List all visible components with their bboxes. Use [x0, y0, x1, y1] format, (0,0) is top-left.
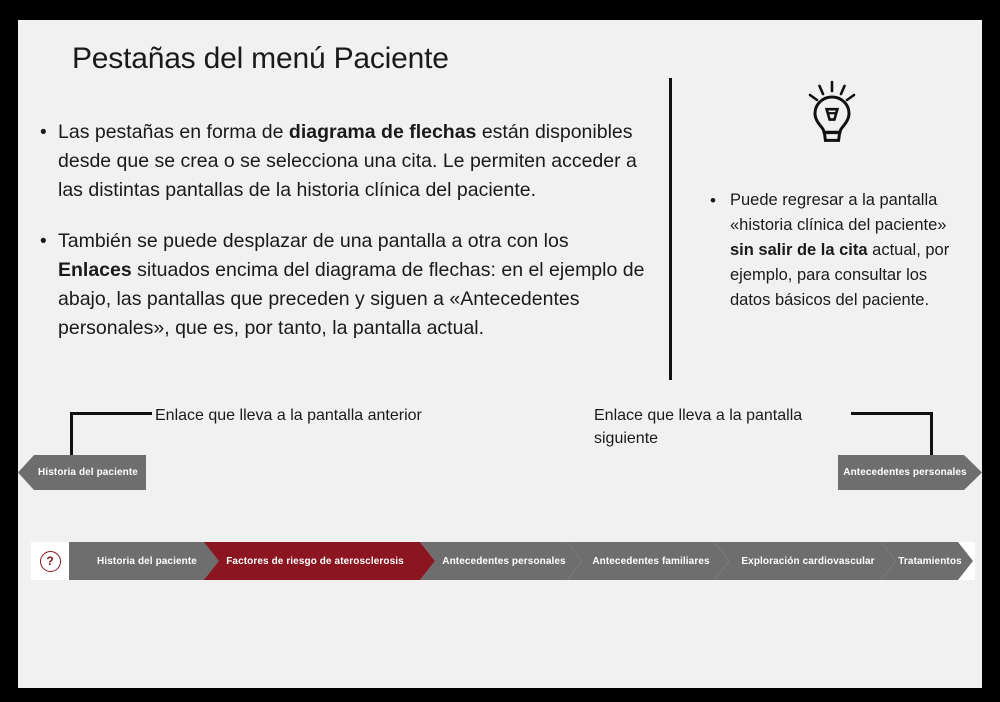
- callout-next-label: Enlace que lleva a la pantalla siguiente: [594, 404, 824, 450]
- bullet-mark: •: [36, 118, 58, 147]
- bullet-item: •Las pestañas en forma de diagrama de fl…: [36, 118, 646, 205]
- tip-panel: • Puede regresar a la pantalla «historia…: [698, 80, 966, 313]
- column-divider: [669, 78, 672, 380]
- lightbulb-icon: [698, 80, 966, 162]
- link-tag-next-label: Antecedentes personales: [843, 467, 976, 478]
- breadcrumb-step[interactable]: Historia del paciente: [69, 542, 219, 580]
- bullet-mark: •: [36, 227, 58, 256]
- bullet-text: También se puede desplazar de una pantal…: [58, 227, 646, 343]
- link-tag-previous[interactable]: Historia del paciente: [18, 455, 146, 490]
- breadcrumb-step-label: Factores de riesgo de aterosclerosis: [214, 556, 410, 567]
- breadcrumb-step[interactable]: Antecedentes familiares: [567, 542, 729, 580]
- breadcrumb-step[interactable]: Exploración cardiovascular: [714, 542, 896, 580]
- callout-previous-connector-horizontal: [70, 412, 152, 415]
- body-text: Puede regresar a la pantalla «historia c…: [730, 191, 946, 234]
- breadcrumb-step-label: Antecedentes personales: [430, 556, 571, 567]
- breadcrumb-step-label: Tratamientos: [886, 556, 967, 567]
- slide-canvas: Pestañas del menú Paciente •Las pestañas…: [18, 20, 982, 688]
- link-tag-previous-label: Historia del paciente: [26, 467, 138, 478]
- left-body-bullets: •Las pestañas en forma de diagrama de fl…: [36, 118, 646, 365]
- callout-next-connector-horizontal: [851, 412, 933, 415]
- bullet-text: Las pestañas en forma de diagrama de fle…: [58, 118, 646, 205]
- body-text: También se puede desplazar de una pantal…: [58, 230, 569, 252]
- tip-bullet: • Puede regresar a la pantalla «historia…: [698, 188, 966, 313]
- emphasis-text: diagrama de flechas: [289, 121, 477, 143]
- tip-bullet-text: Puede regresar a la pantalla «historia c…: [730, 188, 966, 313]
- callout-previous-label: Enlace que lleva a la pantalla anterior: [155, 404, 455, 427]
- breadcrumb-step-label: Historia del paciente: [85, 556, 203, 567]
- page-title: Pestañas del menú Paciente: [72, 42, 449, 76]
- body-text: Las pestañas en forma de: [58, 121, 289, 143]
- emphasis-text: sin salir de la cita: [730, 241, 868, 259]
- callout-next-connector-vertical: [930, 412, 933, 455]
- slide-frame: Pestañas del menú Paciente •Las pestañas…: [0, 0, 1000, 702]
- breadcrumb: ? Historia del pacienteFactores de riesg…: [31, 542, 975, 580]
- bullet-item: •También se puede desplazar de una panta…: [36, 227, 646, 343]
- help-button[interactable]: ?: [31, 542, 69, 580]
- callout-previous-connector-vertical: [70, 412, 73, 455]
- body-text: situados encima del diagrama de flechas:…: [58, 259, 644, 339]
- breadcrumb-step[interactable]: Antecedentes personales: [420, 542, 582, 580]
- link-tag-next[interactable]: Antecedentes personales: [838, 455, 982, 490]
- tip-bullet-mark: •: [710, 188, 730, 213]
- breadcrumb-step[interactable]: Factores de riesgo de aterosclerosis: [189, 542, 435, 580]
- emphasis-text: Enlaces: [58, 259, 132, 281]
- breadcrumb-step-label: Exploración cardiovascular: [729, 556, 880, 567]
- breadcrumb-step-label: Antecedentes familiares: [580, 556, 715, 567]
- question-mark-icon: ?: [40, 551, 61, 572]
